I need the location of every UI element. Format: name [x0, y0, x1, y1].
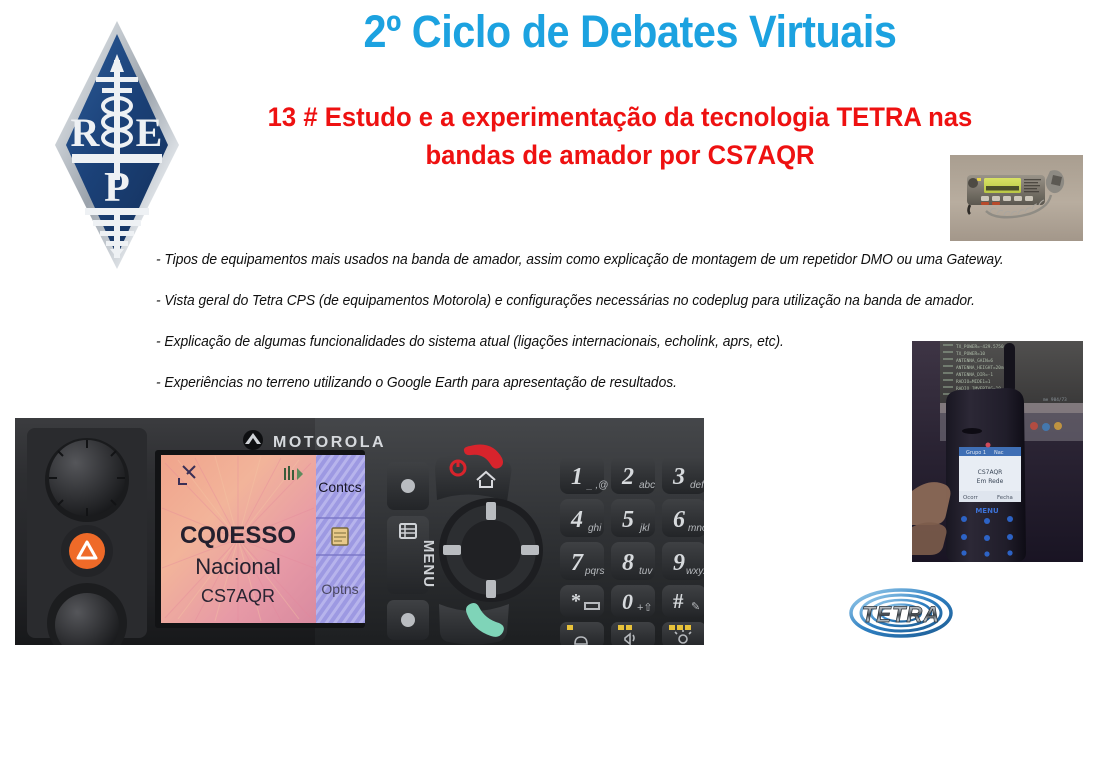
svg-text:✎: ✎ — [691, 601, 700, 613]
rep-logo: R E P — [52, 18, 182, 273]
svg-text:Nacional: Nacional — [195, 554, 281, 579]
svg-text:CS7AQR: CS7AQR — [978, 469, 1003, 476]
svg-text:Contcs: Contcs — [318, 479, 362, 495]
svg-text:abc: abc — [639, 480, 655, 491]
svg-text:MENU: MENU — [975, 507, 999, 515]
photo-mobile-radio — [950, 155, 1083, 241]
svg-text:ANTENNA_DIR=-1: ANTENNA_DIR=-1 — [956, 372, 993, 378]
svg-text:TX_POWER=10: TX_POWER=10 — [956, 351, 985, 357]
svg-text:TETRA: TETRA — [862, 602, 940, 627]
page-title: 2º Ciclo de Debates Virtuais — [225, 6, 1035, 58]
session-subtitle-line1: 13 # Estudo e a experimentação da tecnol… — [174, 98, 1067, 136]
svg-text:Fecha: Fecha — [997, 495, 1013, 501]
svg-text:jkl: jkl — [638, 523, 650, 534]
session-subtitle: 13 # Estudo e a experimentação da tecnol… — [174, 98, 1067, 175]
svg-text:CS7AQR: CS7AQR — [201, 586, 275, 606]
svg-text:Em Rede: Em Rede — [977, 478, 1004, 485]
photo-handheld: TX_POWER=-429.5750 TX_POWER=10 ANTENNA_G… — [912, 341, 1083, 562]
svg-text:ANTENNA_HEIGHT=20m: ANTENNA_HEIGHT=20m — [956, 365, 1004, 371]
photo-mtm-radio: MOTOROLA CQ0ESSO Nacional CS7AQR Contcs — [15, 418, 704, 645]
svg-text:Ocorr: Ocorr — [963, 495, 979, 501]
svg-text:def: def — [690, 480, 704, 491]
svg-text:tuv: tuv — [639, 566, 653, 577]
svg-text:MOTOROLA: MOTOROLA — [273, 434, 386, 451]
svg-text:6: 6 — [673, 507, 685, 533]
svg-text:TX_POWER=-429.5750: TX_POWER=-429.5750 — [956, 344, 1004, 350]
svg-text:7: 7 — [571, 550, 584, 576]
svg-text:R: R — [71, 110, 101, 155]
svg-text:CQ0ESSO: CQ0ESSO — [180, 522, 296, 549]
svg-text:pqrs: pqrs — [584, 566, 604, 577]
svg-text:P: P — [104, 165, 130, 211]
svg-text:8: 8 — [622, 550, 634, 576]
list-item: - Vista geral do Tetra CPS (de equipamen… — [156, 293, 1058, 309]
svg-text:MENU: MENU — [420, 540, 437, 588]
svg-text:mno: mno — [688, 523, 704, 534]
session-subtitle-line2: bandas de amador por CS7AQR — [174, 136, 1067, 174]
svg-text:RADIO=MIDE1=1: RADIO=MIDE1=1 — [956, 379, 991, 385]
svg-text:+⇧: +⇧ — [637, 602, 653, 614]
svg-text:Nac: Nac — [994, 450, 1004, 456]
svg-text:me 904/73: me 904/73 — [1043, 397, 1067, 403]
svg-text:Grupo 1: Grupo 1 — [966, 450, 986, 456]
svg-text:_ ,@: _ ,@ — [586, 480, 608, 491]
svg-text:9: 9 — [673, 550, 685, 576]
svg-text:Optns: Optns — [321, 581, 358, 597]
svg-text:#: # — [673, 589, 684, 613]
list-item: - Tipos de equipamentos mais usados na b… — [156, 252, 1058, 268]
svg-text:*: * — [571, 590, 581, 612]
svg-text:5: 5 — [622, 507, 634, 533]
svg-text:4: 4 — [570, 507, 583, 533]
svg-text:3: 3 — [672, 464, 685, 490]
svg-text:E: E — [136, 110, 163, 155]
svg-text:ANTENNA_GAIN=6: ANTENNA_GAIN=6 — [956, 358, 993, 364]
tetra-logo: TETRA — [849, 586, 954, 641]
svg-text:ghi: ghi — [588, 523, 602, 534]
svg-text:wxyz: wxyz — [686, 566, 704, 577]
svg-text:0: 0 — [622, 589, 633, 614]
svg-text:2: 2 — [621, 464, 634, 490]
svg-text:1: 1 — [571, 464, 583, 490]
